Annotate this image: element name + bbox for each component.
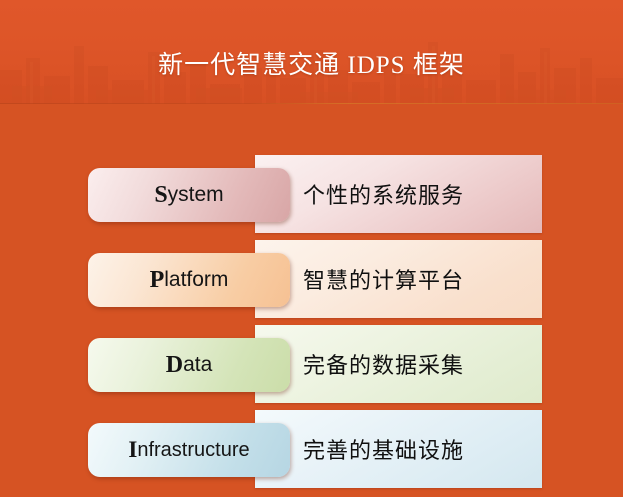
layer-term-initial: S	[154, 182, 167, 209]
layer-description-text: 完备的数据采集	[303, 325, 464, 403]
layer-term-pill[interactable]: Data	[88, 338, 290, 392]
layer-term-initial: D	[166, 352, 183, 379]
layer-row-infrastructure[interactable]: 完善的基础设施 Infrastructure	[0, 410, 623, 496]
layer-term-rest: ystem	[168, 183, 224, 207]
layer-term-label: Platform	[88, 253, 290, 307]
layer-term-rest: latform	[164, 268, 228, 292]
layer-description-text: 智慧的计算平台	[303, 240, 464, 318]
layer-term-pill[interactable]: System	[88, 168, 290, 222]
layer-term-initial: P	[150, 267, 165, 294]
layer-term-rest: ata	[183, 353, 212, 377]
layer-term-pill[interactable]: Infrastructure	[88, 423, 290, 477]
layer-description-text: 完善的基础设施	[303, 410, 464, 488]
layer-row-platform[interactable]: 智慧的计算平台 Platform	[0, 240, 623, 326]
layer-term-label: Data	[88, 338, 290, 392]
layer-term-initial: I	[128, 437, 137, 463]
slide-canvas: 新一代智慧交通 IDPS 框架 个性的系统服务 System 智慧的计算平台 P…	[0, 0, 623, 497]
layer-row-system[interactable]: 个性的系统服务 System	[0, 155, 623, 241]
layer-term-pill[interactable]: Platform	[88, 253, 290, 307]
layer-description-text: 个性的系统服务	[303, 155, 464, 233]
slide-header-banner: 新一代智慧交通 IDPS 框架	[0, 0, 623, 104]
layer-term-rest: nfrastructure	[137, 439, 249, 462]
layer-term-label: System	[88, 168, 290, 222]
layer-row-data[interactable]: 完备的数据采集 Data	[0, 325, 623, 411]
page-title: 新一代智慧交通 IDPS 框架	[0, 0, 623, 104]
layer-term-label: Infrastructure	[88, 423, 290, 477]
